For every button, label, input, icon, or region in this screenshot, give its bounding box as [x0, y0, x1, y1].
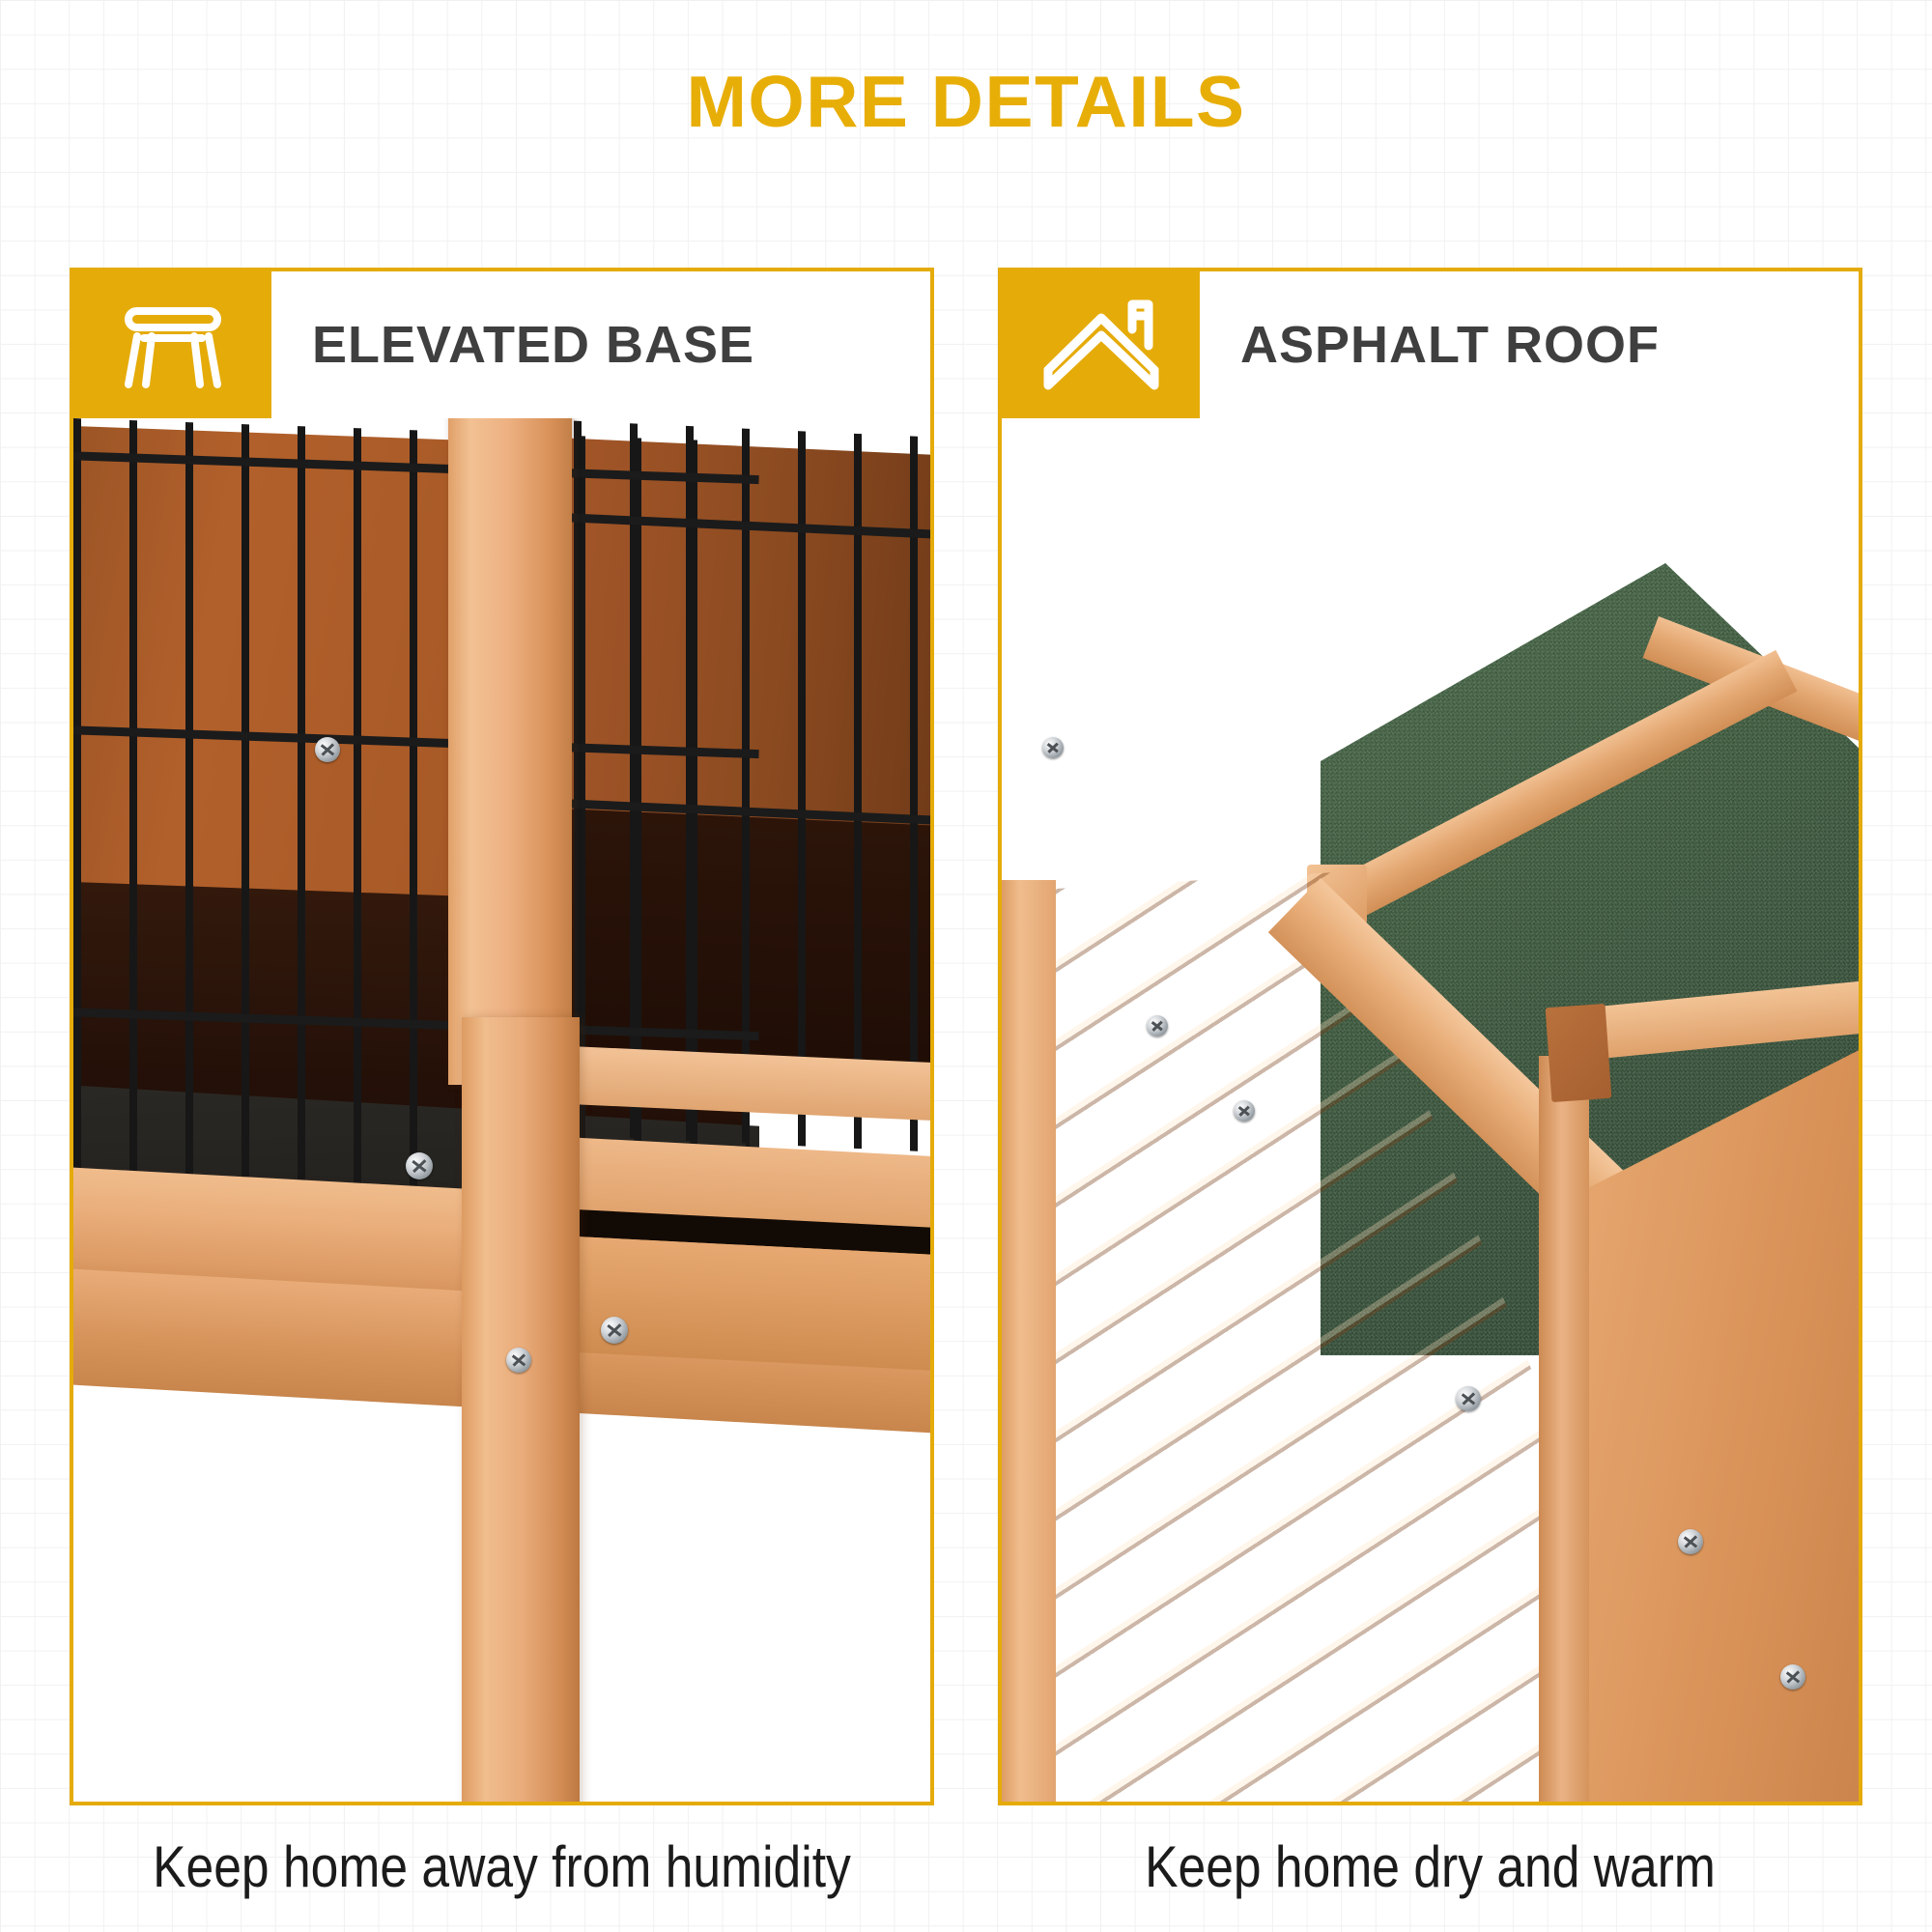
screw-icon	[601, 1317, 628, 1344]
elevated-base-label: ELEVATED BASE	[271, 271, 930, 418]
screw-icon	[1042, 737, 1064, 758]
screw-icon	[315, 737, 340, 762]
feature-panel-asphalt-roof: ASPHALT ROOF	[998, 268, 1862, 1805]
hutch-elevated-leg	[462, 1017, 580, 1802]
elevated-base-header: ELEVATED BASE	[73, 271, 930, 418]
screw-icon	[1780, 1664, 1805, 1690]
caption-elevated-base: Keep home away from humidity	[130, 1833, 874, 1900]
hutch-skirt-board-right	[556, 1236, 930, 1372]
screw-icon	[1234, 1100, 1255, 1122]
roof-chimney-icon	[1002, 271, 1200, 418]
asphalt-roof-header: ASPHALT ROOF	[1002, 271, 1859, 418]
caption-asphalt-roof: Keep home dry and warm	[1059, 1833, 1803, 1900]
table-stand-icon	[73, 271, 271, 418]
screw-icon	[1678, 1529, 1703, 1554]
hutch-corner-post	[448, 418, 572, 1085]
screw-icon	[1147, 1015, 1168, 1037]
hutch-left-stile	[1002, 880, 1056, 1802]
hutch-corner-post	[1539, 1056, 1589, 1802]
screw-icon	[406, 1152, 433, 1179]
elevated-base-photo	[73, 418, 930, 1802]
asphalt-roof-photo	[1002, 418, 1859, 1802]
screw-icon	[1456, 1386, 1481, 1411]
feature-panel-elevated-base: ELEVATED BASE	[70, 268, 934, 1805]
screw-icon	[506, 1348, 531, 1373]
asphalt-roof-label: ASPHALT ROOF	[1200, 271, 1859, 418]
hutch-corner-notch	[1546, 1004, 1612, 1102]
infographic-page: MORE DETAILS	[0, 0, 1932, 1932]
page-title: MORE DETAILS	[0, 60, 1932, 143]
